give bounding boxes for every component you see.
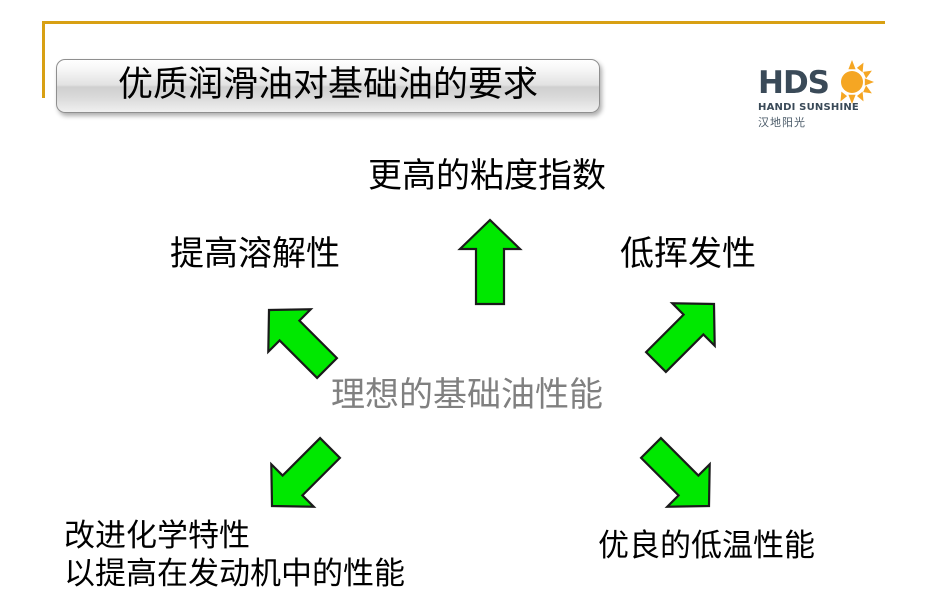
logo-english-name: HANDI SUNSHINE (758, 102, 859, 114)
logo-chinese-name: 汉地阳光 (758, 116, 806, 129)
diagram-label-bottom-left: 改进化学特性 以提高在发动机中的性能 (64, 518, 405, 594)
slide-title-plaque: 优质润滑油对基础油的要求 (56, 59, 600, 113)
arrow-up-left-icon (255, 296, 341, 382)
diagram-label-top: 更高的粘度指数 (368, 157, 606, 195)
diagram-label-left: 提高溶解性 (170, 235, 340, 273)
frame-top-rule (42, 21, 885, 24)
logo-mark: HDS (756, 60, 884, 104)
frame-left-rule (42, 21, 45, 98)
diagram-label-right: 低挥发性 (620, 235, 756, 273)
company-logo: HDS HANDI SUNSHINE 汉地阳光 (756, 60, 884, 130)
logo-wordmark: HDS (758, 66, 829, 100)
diagram-label-bottom-left-line2: 以提高在发动机中的性能 (64, 556, 405, 594)
diagram-label-bottom-left-line1: 改进化学特性 (64, 518, 405, 556)
arrow-down-right-icon (637, 434, 723, 520)
arrow-up-right-icon (642, 290, 728, 376)
page-title: 优质润滑油对基础油的要求 (118, 68, 538, 105)
sun-icon (830, 60, 874, 104)
arrow-up-icon (458, 218, 522, 306)
diagram-label-bottom-right: 优良的低温性能 (598, 529, 815, 564)
diagram-center-label: 理想的基础油性能 (331, 376, 603, 414)
slide-canvas: 优质润滑油对基础油的要求 (0, 0, 930, 600)
arrow-down-left-icon (258, 434, 344, 520)
